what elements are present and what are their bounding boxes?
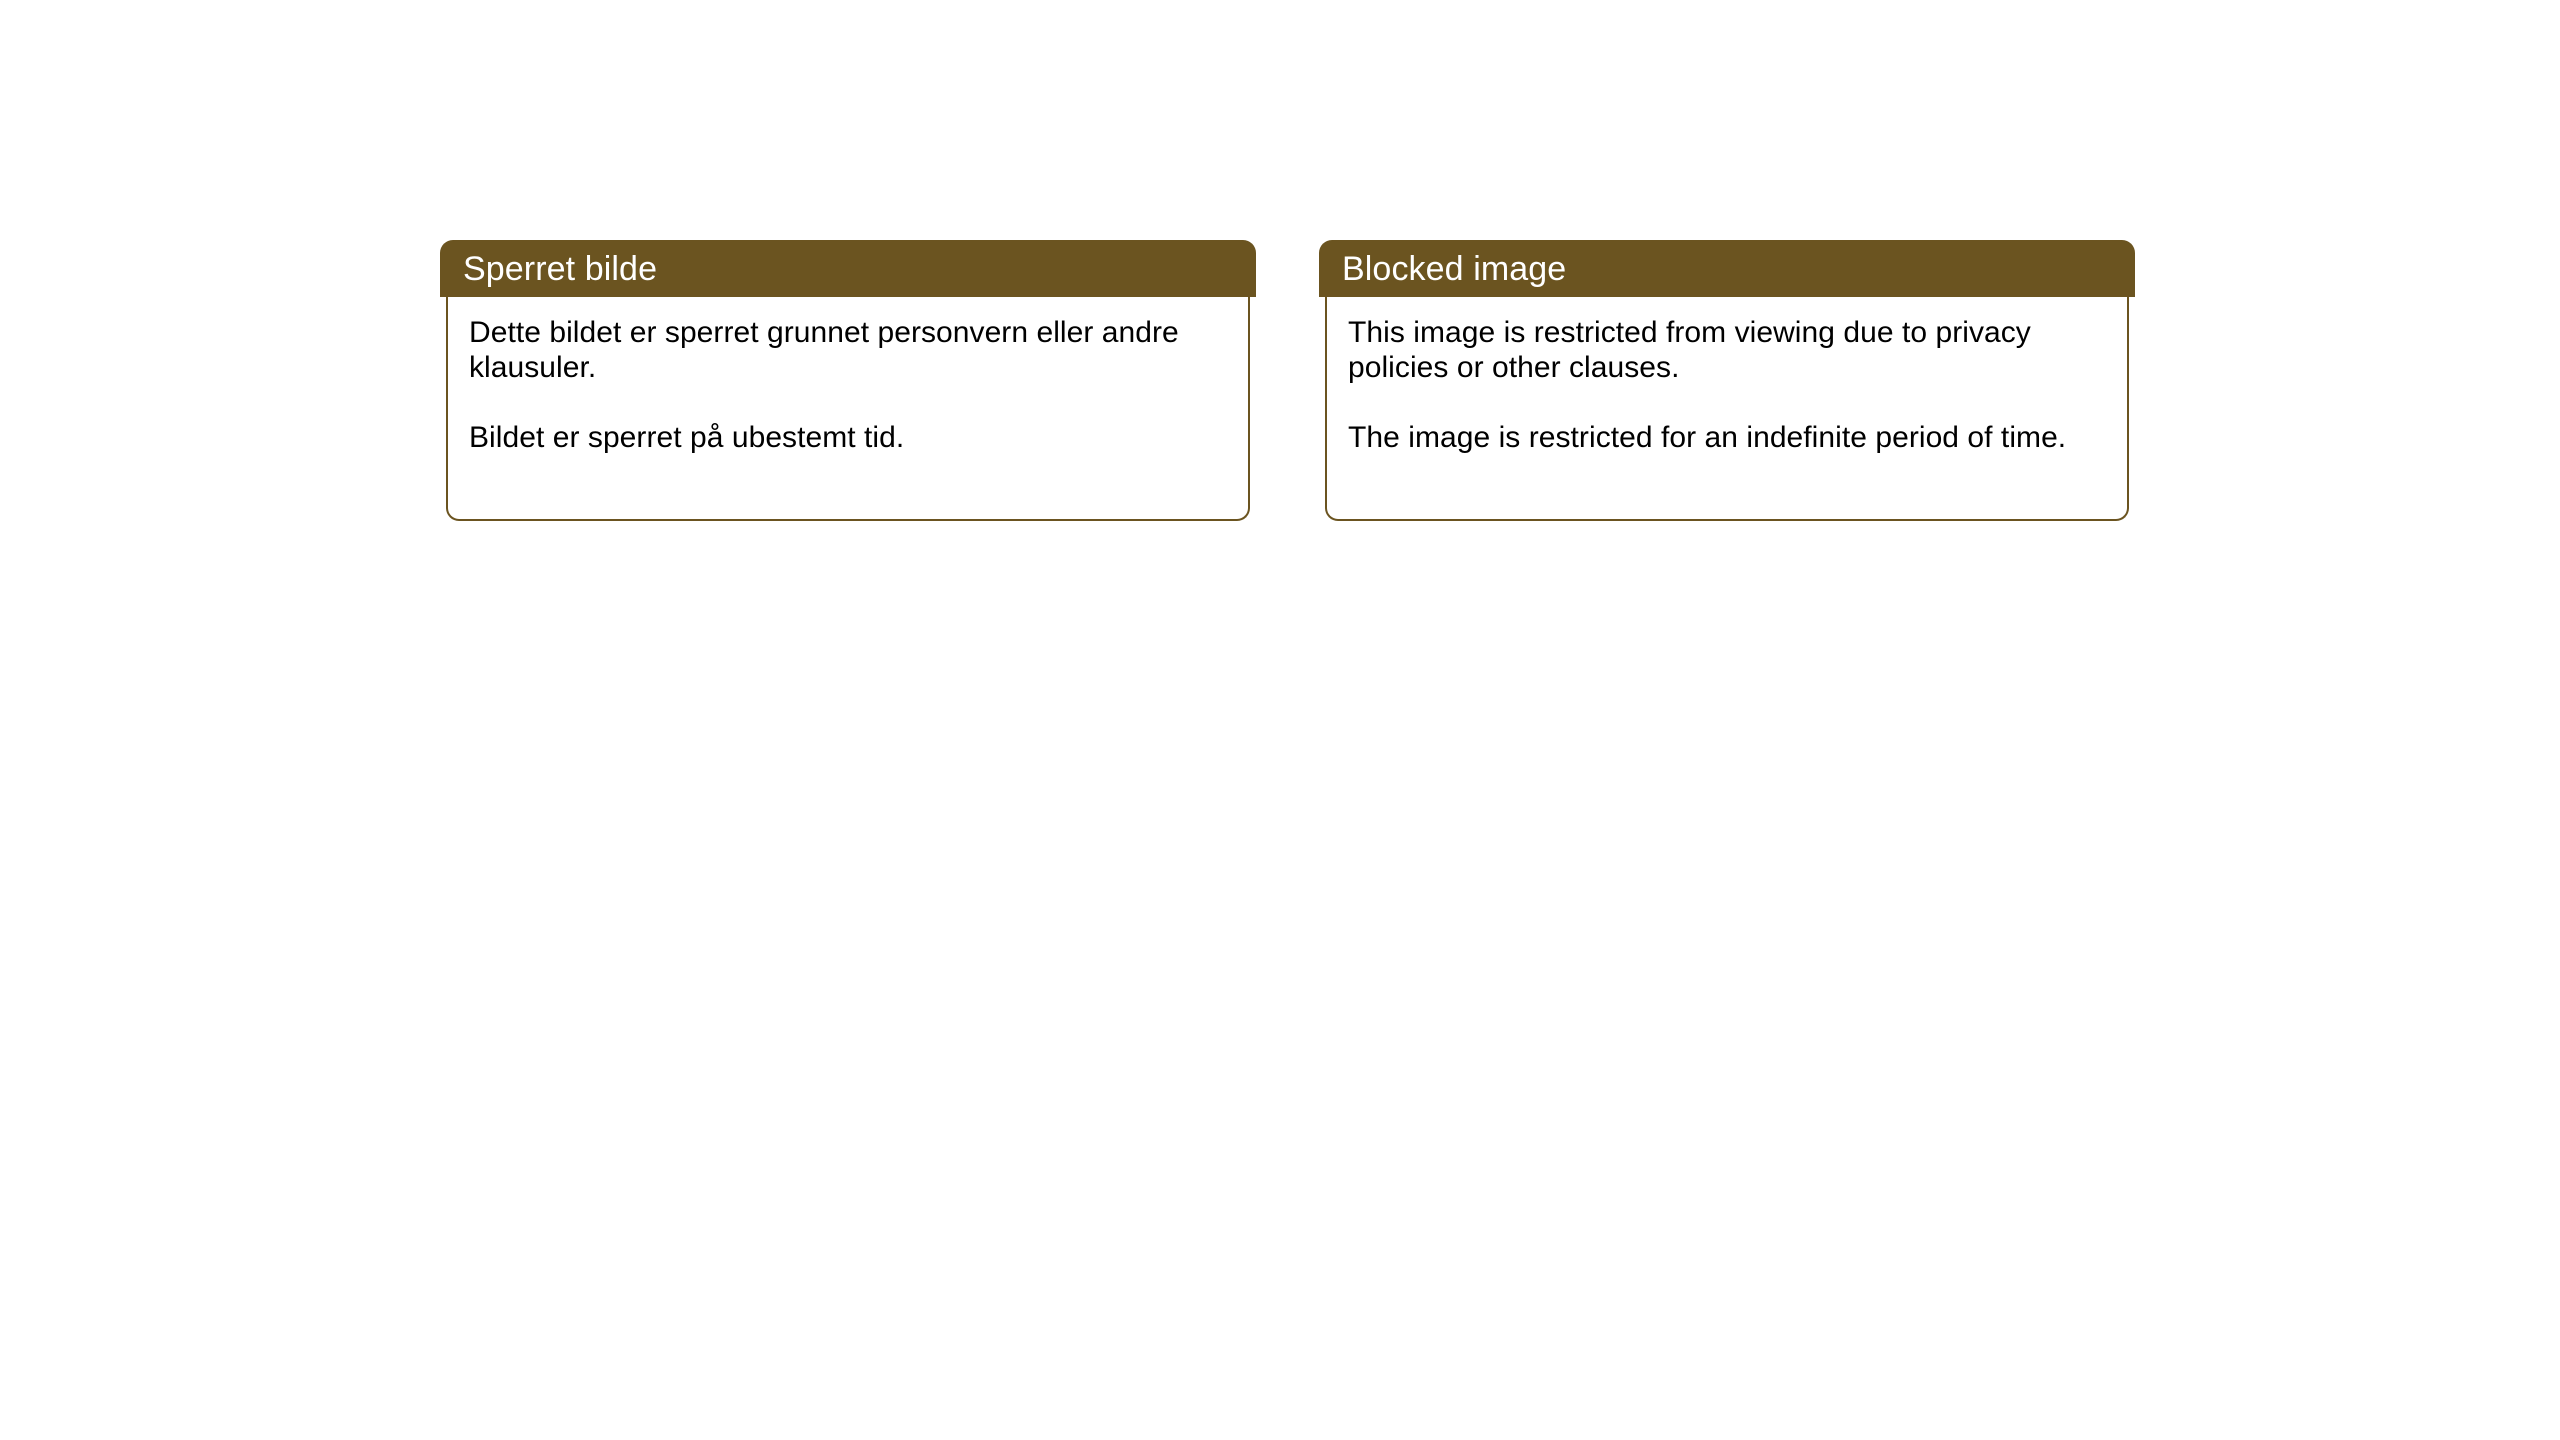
card-paragraph-primary-english: This image is restricted from viewing du… — [1348, 315, 2107, 385]
blocked-image-card-norwegian: Sperret bilde Dette bildet er sperret gr… — [440, 240, 1256, 521]
card-title-norwegian: Sperret bilde — [463, 250, 657, 288]
card-paragraph-secondary-english: The image is restricted for an indefinit… — [1348, 420, 2107, 455]
blocked-image-card-english: Blocked image This image is restricted f… — [1319, 240, 2135, 521]
card-header-english: Blocked image — [1319, 240, 2135, 297]
card-paragraph-primary-norwegian: Dette bildet er sperret grunnet personve… — [469, 315, 1228, 385]
card-body-norwegian: Dette bildet er sperret grunnet personve… — [446, 297, 1250, 521]
card-header-norwegian: Sperret bilde — [440, 240, 1256, 297]
blocked-image-notice-group: Sperret bilde Dette bildet er sperret gr… — [440, 240, 2135, 521]
card-paragraph-secondary-norwegian: Bildet er sperret på ubestemt tid. — [469, 420, 1228, 455]
card-title-english: Blocked image — [1342, 250, 1566, 288]
card-body-english: This image is restricted from viewing du… — [1325, 297, 2129, 521]
